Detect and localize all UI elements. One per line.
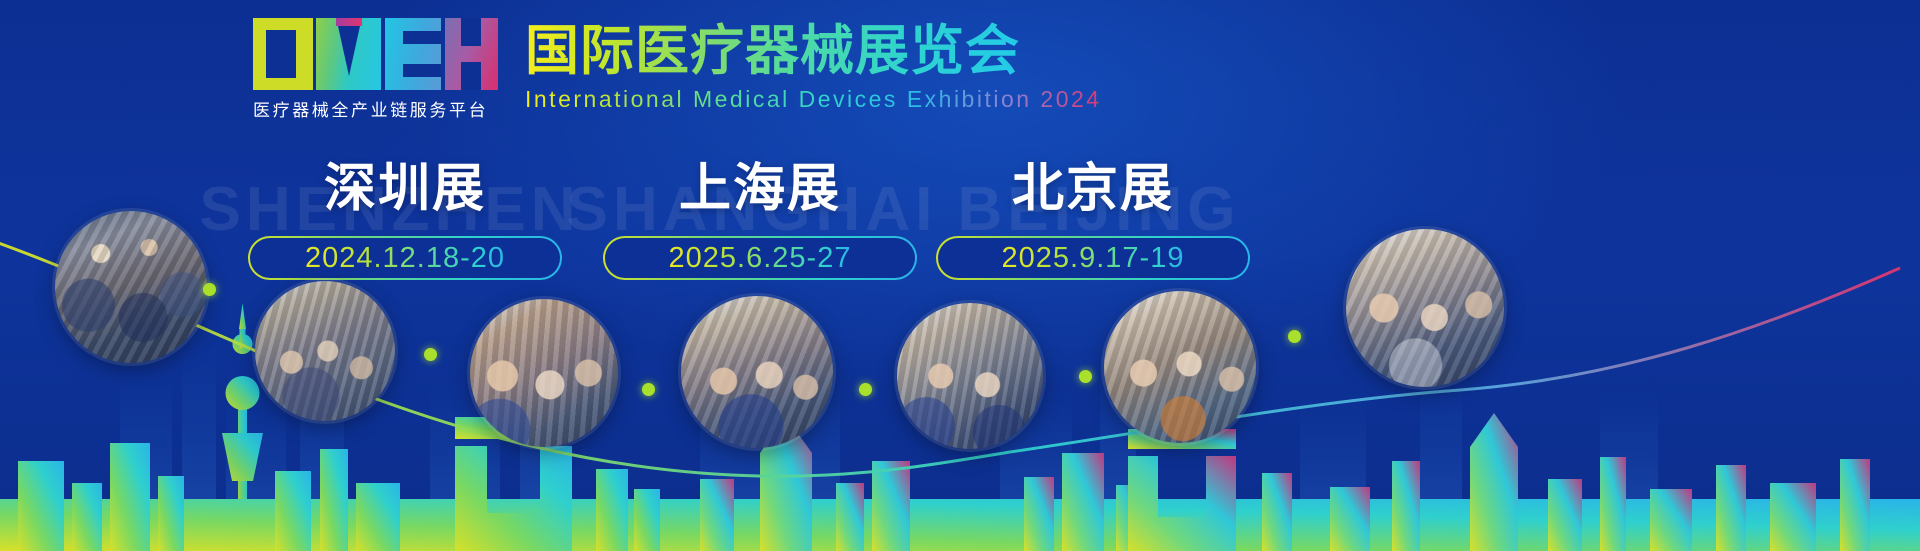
exhibition-banner: 医疗器械全产业链服务平台 国际医疗器械展览会 International Med… bbox=[0, 0, 1920, 551]
curve-dot-4 bbox=[859, 383, 872, 396]
curve-dot-3 bbox=[642, 383, 655, 396]
photo-bubble-5 bbox=[897, 303, 1043, 449]
curve-dot-1 bbox=[203, 283, 216, 296]
curve-dot-2 bbox=[424, 348, 437, 361]
photo-bubble-3 bbox=[470, 299, 618, 447]
photo-bubble-group bbox=[0, 0, 1920, 551]
curve-dot-5 bbox=[1079, 370, 1092, 383]
photo-bubble-2 bbox=[255, 281, 395, 421]
photo-bubble-4 bbox=[681, 296, 833, 448]
photo-bubble-7 bbox=[1346, 229, 1504, 387]
curve-dot-6 bbox=[1288, 330, 1301, 343]
photo-bubble-1 bbox=[55, 211, 207, 363]
photo-bubble-6 bbox=[1104, 291, 1256, 443]
